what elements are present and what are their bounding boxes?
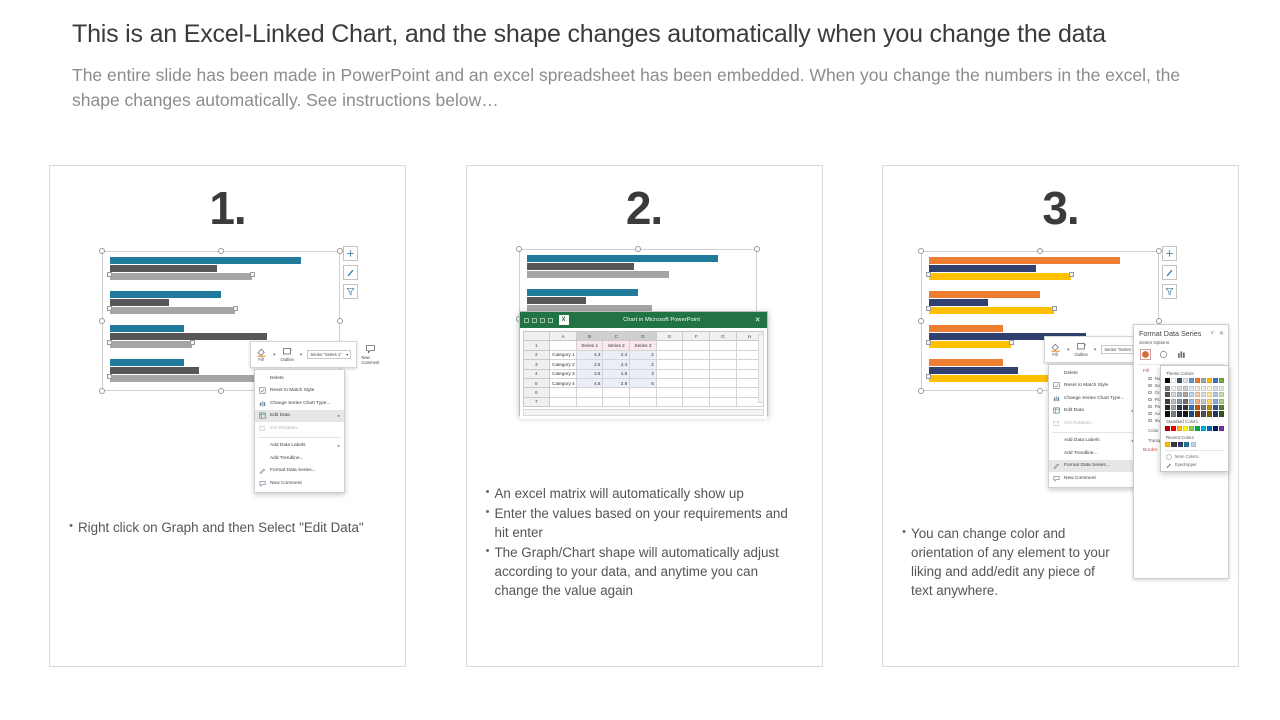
radio-icon	[1148, 377, 1152, 381]
step-1-bullets: • Right click on Graph and then Select "…	[50, 518, 405, 548]
vertical-scrollbar[interactable]	[758, 334, 764, 403]
resize-handle-s[interactable]	[1037, 388, 1043, 394]
resize-handle-ne[interactable]	[754, 246, 760, 252]
column-header-d[interactable]: D	[630, 332, 657, 341]
theme-colors-row-tint-5[interactable]	[1165, 411, 1224, 416]
swatch[interactable]	[1189, 392, 1194, 397]
none-icon	[258, 441, 267, 450]
cell-c5[interactable]: 2.8	[603, 378, 630, 387]
swatch[interactable]	[1165, 386, 1170, 391]
table-row: 4 Category 3 3.5 1.8 3	[523, 369, 763, 378]
steps-container: 1.	[49, 165, 1239, 667]
row-header[interactable]: 6	[523, 388, 550, 397]
cell-a7[interactable]	[550, 397, 577, 406]
resize-handle-n[interactable]	[218, 248, 224, 254]
step-number-3: 3.	[883, 185, 1238, 231]
cell-d1[interactable]: Series 3	[630, 341, 657, 350]
fill-label: Fill	[258, 357, 263, 362]
eyedropper-label: Eyedropper	[1175, 462, 1197, 467]
swatch[interactable]	[1219, 426, 1224, 431]
context-menu-item-add-data-labels[interactable]: Add Data Labels ▸	[255, 440, 344, 453]
swatch[interactable]	[1189, 411, 1194, 416]
cell-g3[interactable]	[710, 360, 737, 369]
resize-handle-s[interactable]	[218, 388, 224, 394]
step-number-2: 2.	[467, 185, 822, 231]
theme-colors-row-tint-4[interactable]	[1165, 405, 1224, 410]
fill-line-tab[interactable]	[1140, 349, 1151, 360]
row-header[interactable]: 3	[523, 360, 550, 369]
step-panel-2: 2.	[466, 165, 823, 667]
effects-tab[interactable]	[1158, 349, 1169, 360]
chart-type-icon	[258, 399, 267, 408]
context-menu-label: Reset to Match Style	[270, 388, 340, 393]
fill-icon	[1049, 341, 1061, 352]
excel-column-headers: A B C D E F G H	[523, 332, 763, 341]
outline-label: Outline	[281, 357, 294, 362]
fill-dropdown-arrow-icon[interactable]: ▾	[273, 352, 276, 358]
chart-context-menu-3[interactable]: Delete Reset to Match Style Change Serie…	[1048, 364, 1139, 488]
edit-data-icon	[258, 411, 267, 420]
standard-colors-row[interactable]	[1165, 426, 1224, 431]
cell-g6[interactable]	[710, 388, 737, 397]
cell-c7[interactable]	[603, 397, 630, 406]
page-title: This is an Excel-Linked Chart, and the s…	[72, 20, 1212, 49]
swatch[interactable]	[1165, 399, 1170, 404]
context-menu-item-reset-to-match-style[interactable]: Reset to Match Style	[1049, 380, 1138, 393]
bullet-text: Right click on Graph and then Select "Ed…	[78, 518, 387, 537]
swatch[interactable]	[1201, 411, 1206, 416]
bullet-icon: •	[64, 518, 78, 537]
column-header-a[interactable]: A	[550, 332, 577, 341]
swatch[interactable]	[1177, 378, 1182, 383]
swatch[interactable]	[1213, 392, 1218, 397]
swatch[interactable]	[1177, 426, 1182, 431]
swatch[interactable]	[1177, 405, 1182, 410]
swatch[interactable]	[1165, 411, 1170, 416]
swatch[interactable]	[1177, 399, 1182, 404]
redo-icon[interactable]	[540, 318, 545, 323]
context-menu-label: Format Data Series...	[1064, 463, 1134, 468]
rotation-icon	[1052, 419, 1061, 428]
cell-b5[interactable]: 4.5	[576, 378, 603, 387]
context-menu-item-add-trendline[interactable]: Add Trendline...	[255, 452, 344, 465]
outline-dropdown-arrow-icon[interactable]: ▾	[1094, 347, 1097, 353]
excel-embedded-window[interactable]: X Chart in Microsoft PowerPoint ✕ A B C …	[519, 311, 768, 416]
submenu-arrow-icon: ▸	[338, 443, 340, 449]
cell-b6[interactable]	[576, 388, 603, 397]
outline-button[interactable]: Outline	[281, 346, 294, 362]
step-2-bullets: • An excel matrix will automatically sho…	[467, 484, 822, 611]
swatch[interactable]	[1183, 378, 1188, 383]
resize-handle-sw[interactable]	[99, 388, 105, 394]
chart-elements-icon[interactable]	[1162, 246, 1177, 261]
swatch[interactable]	[1171, 411, 1176, 416]
recent-colors-row[interactable]	[1165, 442, 1224, 447]
column-header-e[interactable]: E	[656, 332, 683, 341]
recent-colors-label: Recent Colors	[1166, 435, 1224, 440]
edit-data-icon	[1052, 406, 1061, 415]
radio-icon	[1148, 384, 1152, 388]
resize-handle-nw[interactable]	[516, 246, 522, 252]
swatch[interactable]	[1201, 378, 1206, 383]
context-menu-item-reset-to-match-style[interactable]: Reset to Match Style	[255, 385, 344, 398]
chart-elements-icon[interactable]	[343, 246, 358, 261]
swatch[interactable]	[1165, 442, 1170, 447]
outline-dropdown-arrow-icon[interactable]: ▾	[300, 352, 303, 358]
chart-side-buttons-1	[343, 246, 358, 299]
theme-colors-row-base[interactable]	[1165, 378, 1224, 383]
context-menu-item-delete[interactable]: Delete	[255, 372, 344, 385]
context-menu-label: Edit Data	[1064, 408, 1124, 413]
excel-window-title: Chart in Microsoft PowerPoint	[569, 317, 755, 323]
select-all-corner[interactable]	[523, 332, 550, 341]
radio-icon	[1148, 412, 1152, 416]
chart-styles-icon[interactable]	[1162, 265, 1177, 280]
swatch[interactable]	[1207, 378, 1212, 383]
format-pane-tabs	[1134, 347, 1228, 363]
table-row: 1 Series 1 Series 2 Series 3	[523, 341, 763, 350]
swatch[interactable]	[1171, 405, 1176, 410]
context-menu-label: Delete	[1064, 371, 1134, 376]
resize-handle-n[interactable]	[635, 246, 641, 252]
swatch[interactable]	[1219, 411, 1224, 416]
swatch[interactable]	[1171, 386, 1176, 391]
cell-f2[interactable]	[683, 350, 710, 359]
swatch[interactable]	[1183, 426, 1188, 431]
context-menu-label: Add Data Labels	[270, 443, 330, 448]
cell-a5[interactable]: Category 4	[550, 378, 577, 387]
bullet-text: You can change color and orientation of …	[911, 524, 1115, 600]
excel-quick-access-toolbar[interactable]	[524, 318, 553, 323]
fill-dropdown-arrow-icon[interactable]: ▾	[1067, 347, 1070, 353]
horizontal-scrollbar[interactable]	[523, 409, 764, 416]
swatch[interactable]	[1213, 386, 1218, 391]
context-menu-item-delete[interactable]: Delete	[1049, 367, 1138, 380]
cell-e2[interactable]	[656, 350, 683, 359]
close-icon[interactable]: ✕	[1219, 330, 1224, 337]
cell-b3[interactable]: 2.5	[576, 360, 603, 369]
context-menu-label: Add Trendline...	[270, 456, 340, 461]
color-label: Color	[1148, 428, 1159, 433]
bullet-text: An excel matrix will automatically show …	[495, 484, 804, 503]
swatch[interactable]	[1213, 426, 1218, 431]
swatch[interactable]	[1213, 378, 1218, 383]
swatch[interactable]	[1171, 426, 1176, 431]
swatch[interactable]	[1201, 386, 1206, 391]
swatch[interactable]	[1195, 411, 1200, 416]
context-menu-label: Change Series Chart Type...	[270, 401, 340, 406]
cell-f3[interactable]	[683, 360, 710, 369]
step-1-illustration: Fill ▾ Outline ▾ Series "Series 1" ▾	[50, 241, 405, 519]
context-menu-item-add-data-labels[interactable]: Add Data Labels ▸	[1049, 435, 1138, 448]
row-header[interactable]: 1	[523, 341, 550, 350]
swatch[interactable]	[1183, 386, 1188, 391]
swatch[interactable]	[1177, 386, 1182, 391]
cell-b7[interactable]	[576, 397, 603, 406]
checkbox-icon	[1148, 419, 1152, 423]
cell-b1[interactable]: Series 1	[576, 341, 603, 350]
menu-divider	[1052, 432, 1135, 433]
swatch[interactable]	[1213, 405, 1218, 410]
format-pane-header: Format Data Series ˅ ✕	[1134, 325, 1228, 340]
swatch[interactable]	[1195, 426, 1200, 431]
column-header-g[interactable]: G	[710, 332, 737, 341]
column-header-c[interactable]: C	[603, 332, 630, 341]
cell-a6[interactable]	[550, 388, 577, 397]
theme-colors-grid[interactable]	[1165, 378, 1224, 417]
context-menu-label: 3-D Rotation...	[270, 426, 340, 431]
new-comment-label: New Comment	[361, 355, 379, 366]
outline-button[interactable]: Outline	[1075, 341, 1088, 357]
bullet-icon: •	[897, 524, 911, 600]
series-select-value: Series "Series 1"	[310, 352, 341, 357]
swatch[interactable]	[1177, 392, 1182, 397]
undo-icon[interactable]	[532, 318, 537, 323]
cell-f1[interactable]	[683, 341, 710, 350]
picker-divider	[1165, 450, 1224, 451]
fill-button[interactable]: Fill	[255, 346, 267, 362]
swatch[interactable]	[1189, 426, 1194, 431]
bullet-icon: •	[481, 543, 495, 600]
close-icon[interactable]: ✕	[755, 317, 763, 324]
format-pane-title: Format Data Series	[1139, 329, 1205, 338]
cell-a4[interactable]: Category 3	[550, 369, 577, 378]
chart-side-buttons-3	[1162, 246, 1177, 299]
chart-filters-icon[interactable]	[343, 284, 358, 299]
chart-filters-icon[interactable]	[1162, 284, 1177, 299]
cell-d2[interactable]: 2	[630, 350, 657, 359]
context-menu-item-new-comment[interactable]: New Comment	[255, 477, 344, 490]
theme-colors-row-tint-3[interactable]	[1165, 399, 1224, 404]
cell-b4[interactable]: 3.5	[576, 369, 603, 378]
bullet-text: The Graph/Chart shape will automatically…	[495, 543, 804, 600]
swatch[interactable]	[1207, 426, 1212, 431]
swatch[interactable]	[1178, 442, 1183, 447]
context-menu-item-new-comment[interactable]: New Comment	[1049, 472, 1138, 485]
cell-c2[interactable]: 2.4	[603, 350, 630, 359]
swatch[interactable]	[1207, 399, 1212, 404]
cell-d6[interactable]	[630, 388, 657, 397]
color-picker-popup[interactable]: Theme Colors	[1160, 365, 1229, 472]
cell-e4[interactable]	[656, 369, 683, 378]
swatch[interactable]	[1195, 399, 1200, 404]
cell-g1[interactable]	[710, 341, 737, 350]
swatch[interactable]	[1207, 405, 1212, 410]
context-menu-label: New Comment	[1064, 476, 1134, 481]
swatch[interactable]	[1177, 411, 1182, 416]
cell-e3[interactable]	[656, 360, 683, 369]
swatch[interactable]	[1207, 411, 1212, 416]
context-menu-item-change-series-chart-type[interactable]: Change Series Chart Type...	[1049, 392, 1138, 405]
context-menu-item-edit-data[interactable]: Edit Data ▸	[255, 410, 344, 423]
mini-toolbar-1[interactable]: Fill ▾ Outline ▾ Series "Series 1" ▾	[250, 341, 357, 368]
swatch[interactable]	[1165, 405, 1170, 410]
theme-colors-row-tint-2[interactable]	[1165, 392, 1224, 397]
context-menu-item-edit-data[interactable]: Edit Data ▸	[1049, 405, 1138, 418]
cell-c4[interactable]: 1.8	[603, 369, 630, 378]
context-menu-label: Change Series Chart Type...	[1064, 396, 1134, 401]
swatch[interactable]	[1201, 426, 1206, 431]
theme-colors-label: Theme Colors	[1166, 371, 1224, 376]
swatch[interactable]	[1219, 392, 1224, 397]
cell-d4[interactable]: 3	[630, 369, 657, 378]
step-panel-3: 3.	[882, 165, 1239, 667]
swatch[interactable]	[1195, 386, 1200, 391]
swatch[interactable]	[1171, 442, 1176, 447]
swatch[interactable]	[1183, 392, 1188, 397]
cell-f5[interactable]	[683, 378, 710, 387]
context-menu-item-3d-rotation: 3-D Rotation...	[1049, 417, 1138, 430]
menu-divider	[258, 437, 341, 438]
collapse-icon[interactable]: ˅	[1210, 331, 1214, 337]
swatch[interactable]	[1165, 392, 1170, 397]
column-header-b[interactable]: B	[576, 332, 603, 341]
reset-icon	[258, 386, 267, 395]
none-icon	[258, 454, 267, 463]
resize-handle-nw[interactable]	[99, 248, 105, 254]
excel-sheet-body: A B C D E F G H 1 Series 1	[520, 328, 767, 419]
table-row: 5 Category 4 4.5 2.8 5	[523, 378, 763, 387]
chart-styles-icon[interactable]	[343, 265, 358, 280]
cell-d3[interactable]: 2	[630, 360, 657, 369]
resize-handle-nw[interactable]	[918, 248, 924, 254]
cell-e1[interactable]	[656, 341, 683, 350]
chevron-down-icon[interactable]: ▾	[346, 352, 348, 357]
swatch[interactable]	[1195, 405, 1200, 410]
cell-g4[interactable]	[710, 369, 737, 378]
swatch[interactable]	[1183, 405, 1188, 410]
column-header-f[interactable]: F	[683, 332, 710, 341]
cell-g2[interactable]	[710, 350, 737, 359]
list-item: • The Graph/Chart shape will automatical…	[481, 543, 804, 600]
swatch[interactable]	[1201, 405, 1206, 410]
rotation-icon	[258, 424, 267, 433]
swatch[interactable]	[1184, 442, 1189, 447]
swatch[interactable]	[1219, 405, 1224, 410]
format-pane-subtitle[interactable]: Series Options	[1134, 340, 1228, 347]
context-menu-item-change-series-chart-type[interactable]: Change Series Chart Type...	[255, 397, 344, 410]
row-header[interactable]: 4	[523, 369, 550, 378]
more-colors-button[interactable]: More Colors...	[1165, 452, 1224, 460]
format-icon	[1052, 461, 1061, 470]
table-row: 7	[523, 397, 763, 406]
context-menu-item-add-trendline[interactable]: Add Trendline...	[1049, 447, 1138, 460]
outline-label: Outline	[1075, 352, 1088, 357]
context-menu-label: Edit Data	[270, 413, 330, 418]
swatch[interactable]	[1189, 378, 1194, 383]
context-menu-label: Add Data Labels	[1064, 438, 1124, 443]
context-menu-label: Delete	[270, 376, 340, 381]
step-2-illustration: X Chart in Microsoft PowerPoint ✕ A B C …	[467, 241, 822, 519]
new-comment-button[interactable]: New Comment	[361, 344, 379, 366]
swatch[interactable]	[1171, 378, 1176, 383]
context-menu-item-format-data-series[interactable]: Format Data Series...	[1049, 460, 1138, 473]
swatch[interactable]	[1171, 399, 1176, 404]
swatch[interactable]	[1219, 386, 1224, 391]
series-select[interactable]: Series "Series 1" ▾	[307, 350, 351, 359]
page-subtitle: The entire slide has been made in PowerP…	[72, 63, 1197, 113]
swatch[interactable]	[1195, 392, 1200, 397]
customize-qat-icon[interactable]	[548, 318, 553, 323]
swatch[interactable]	[1219, 399, 1224, 404]
swatch[interactable]	[1183, 399, 1188, 404]
cell-c3[interactable]: 4.4	[603, 360, 630, 369]
slide-header: This is an Excel-Linked Chart, and the s…	[72, 20, 1212, 112]
cell-f4[interactable]	[683, 369, 710, 378]
cell-a2[interactable]: Category 1	[550, 350, 577, 359]
swatch[interactable]	[1219, 378, 1224, 383]
swatch[interactable]	[1213, 411, 1218, 416]
swatch[interactable]	[1207, 392, 1212, 397]
theme-colors-row-tint-1[interactable]	[1165, 386, 1224, 391]
row-header[interactable]: 7	[523, 397, 550, 406]
resize-handle-n[interactable]	[1037, 248, 1043, 254]
cell-b2[interactable]: 4.3	[576, 350, 603, 359]
bullet-icon: •	[481, 504, 495, 542]
cell-f6[interactable]	[683, 388, 710, 397]
swatch[interactable]	[1207, 386, 1212, 391]
table-row: 2 Category 1 4.3 2.4 2	[523, 350, 763, 359]
more-colors-label: More Colors...	[1175, 454, 1201, 459]
eyedropper-button[interactable]: Eyedropper	[1165, 460, 1224, 468]
chart-context-menu-1[interactable]: Delete Reset to Match Style Change Serie…	[254, 369, 345, 493]
cell-e6[interactable]	[656, 388, 683, 397]
reset-icon	[1052, 381, 1061, 390]
swatch[interactable]	[1213, 399, 1218, 404]
series-options-tab[interactable]	[1176, 349, 1187, 360]
cell-c1[interactable]: Series 2	[603, 341, 630, 350]
cell-f7[interactable]	[683, 397, 710, 406]
resize-handle-w[interactable]	[918, 318, 924, 324]
cell-a1[interactable]	[550, 341, 577, 350]
cell-e7[interactable]	[656, 397, 683, 406]
swatch[interactable]	[1189, 386, 1194, 391]
cell-e5[interactable]	[656, 378, 683, 387]
resize-handle-sw[interactable]	[918, 388, 924, 394]
swatch[interactable]	[1201, 399, 1206, 404]
comment-icon	[258, 479, 267, 488]
swatch[interactable]	[1201, 392, 1206, 397]
swatch[interactable]	[1165, 426, 1170, 431]
context-menu-item-format-data-series[interactable]: Format Data Series...	[255, 465, 344, 478]
row-header[interactable]: 5	[523, 378, 550, 387]
resize-handle-w[interactable]	[99, 318, 105, 324]
cell-a3[interactable]: Category 2	[550, 360, 577, 369]
swatch[interactable]	[1165, 378, 1170, 383]
save-icon[interactable]	[524, 318, 529, 323]
cell-d5[interactable]: 5	[630, 378, 657, 387]
swatch[interactable]	[1189, 405, 1194, 410]
excel-data-grid[interactable]: A B C D E F G H 1 Series 1	[523, 331, 764, 407]
cell-c6[interactable]	[603, 388, 630, 397]
cell-d7[interactable]	[630, 397, 657, 406]
submenu-arrow-icon: ▸	[338, 413, 340, 419]
row-header[interactable]: 2	[523, 350, 550, 359]
fill-button[interactable]: Fill	[1049, 341, 1061, 357]
bullet-text: Enter the values based on your requireme…	[495, 504, 804, 542]
resize-handle-e[interactable]	[337, 318, 343, 324]
swatch[interactable]	[1183, 411, 1188, 416]
cell-g7[interactable]	[710, 397, 737, 406]
step-panel-1: 1.	[49, 165, 406, 667]
swatch[interactable]	[1191, 442, 1196, 447]
list-item: • You can change color and orientation o…	[897, 524, 1115, 600]
cell-g5[interactable]	[710, 378, 737, 387]
swatch[interactable]	[1195, 378, 1200, 383]
radio-icon	[1148, 405, 1152, 409]
swatch[interactable]	[1171, 392, 1176, 397]
swatch[interactable]	[1189, 399, 1194, 404]
